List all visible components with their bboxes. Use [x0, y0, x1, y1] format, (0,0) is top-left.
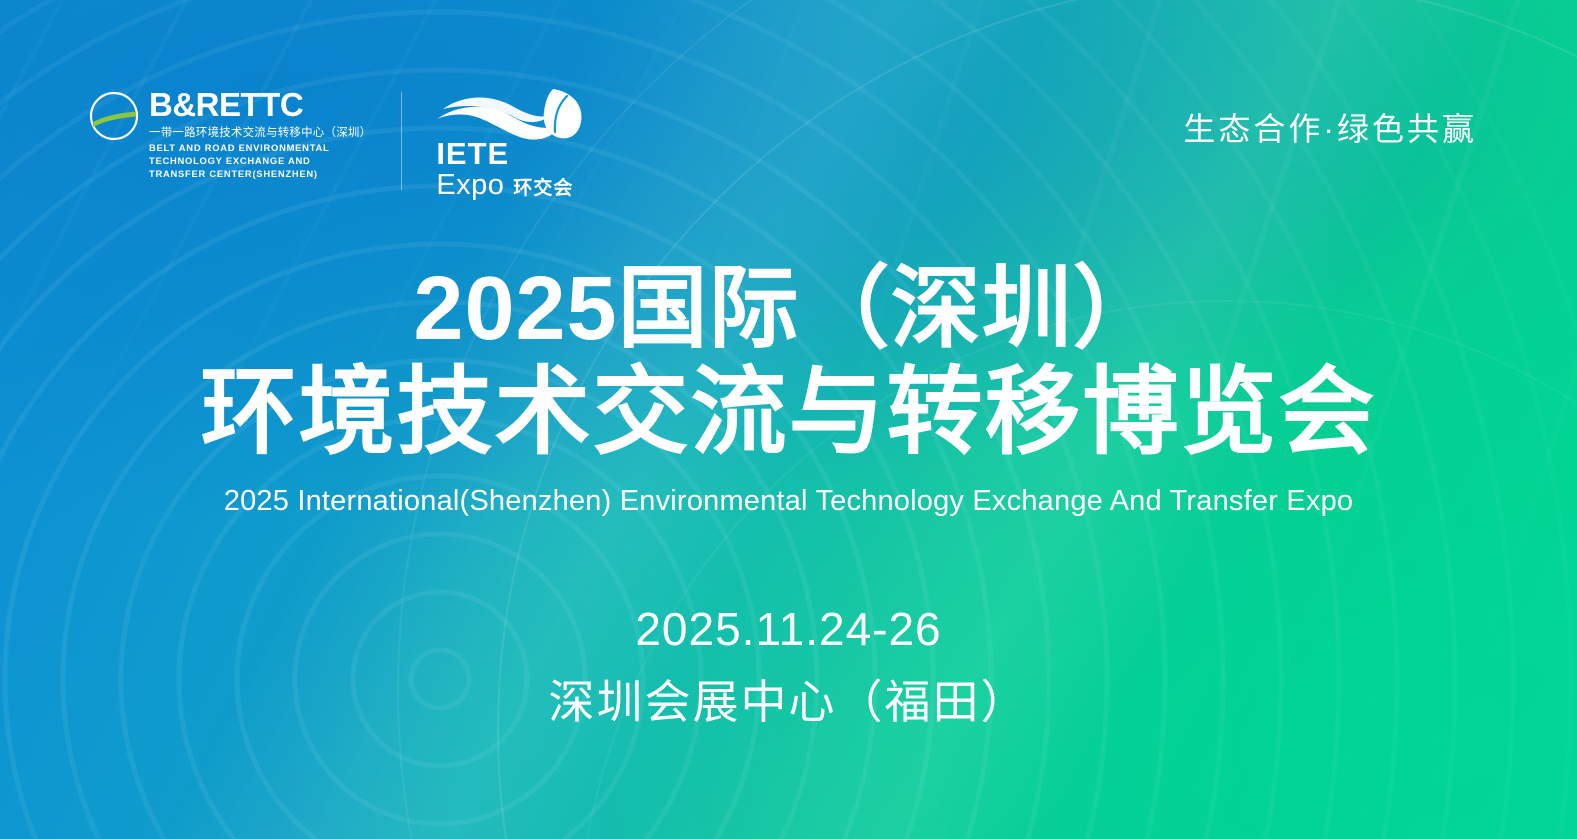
iete-chinese-short-name: 环交会 — [513, 179, 573, 198]
event-banner: B&RETTC 一带一路环境技术交流与转移中心（深圳） BELT AND ROA… — [0, 0, 1577, 839]
iete-expo-word: Expo — [436, 171, 504, 200]
iete-expo-logo[interactable]: IETE Expo 环交会 — [432, 86, 590, 200]
globe-icon — [88, 90, 140, 142]
main-content-block: 2025国际（深圳） 环境技术交流与转移博览会 2025 Internation… — [0, 262, 1577, 732]
brettc-wordmark: B&RETTC — [149, 88, 371, 121]
iete-wordmark: IETE Expo 环交会 — [436, 138, 573, 200]
iete-acronym: IETE — [436, 138, 573, 169]
event-title-line-1: 2025国际（深圳） — [0, 262, 1577, 357]
event-title-line-2: 环境技术交流与转移博览会 — [0, 359, 1577, 467]
brettc-logo[interactable]: B&RETTC 一带一路环境技术交流与转移中心（深圳） BELT AND ROA… — [88, 88, 371, 180]
event-subtitle-english: 2025 International(Shenzhen) Environment… — [0, 485, 1577, 518]
slogan-text: 生态合作·绿色共赢 — [1183, 104, 1477, 150]
logo-row: B&RETTC 一带一路环境技术交流与转移中心（深圳） BELT AND ROA… — [88, 88, 590, 200]
event-date: 2025.11.24-26 — [0, 602, 1577, 656]
logo-divider — [401, 92, 402, 190]
brettc-english-name: BELT AND ROAD ENVIRONMENTAL TECHNOLOGY E… — [149, 142, 349, 180]
brettc-text-block: B&RETTC 一带一路环境技术交流与转移中心（深圳） BELT AND ROA… — [149, 88, 371, 180]
brettc-chinese-name: 一带一路环境技术交流与转移中心（深圳） — [149, 126, 371, 140]
event-venue: 深圳会展中心（福田） — [0, 666, 1577, 732]
